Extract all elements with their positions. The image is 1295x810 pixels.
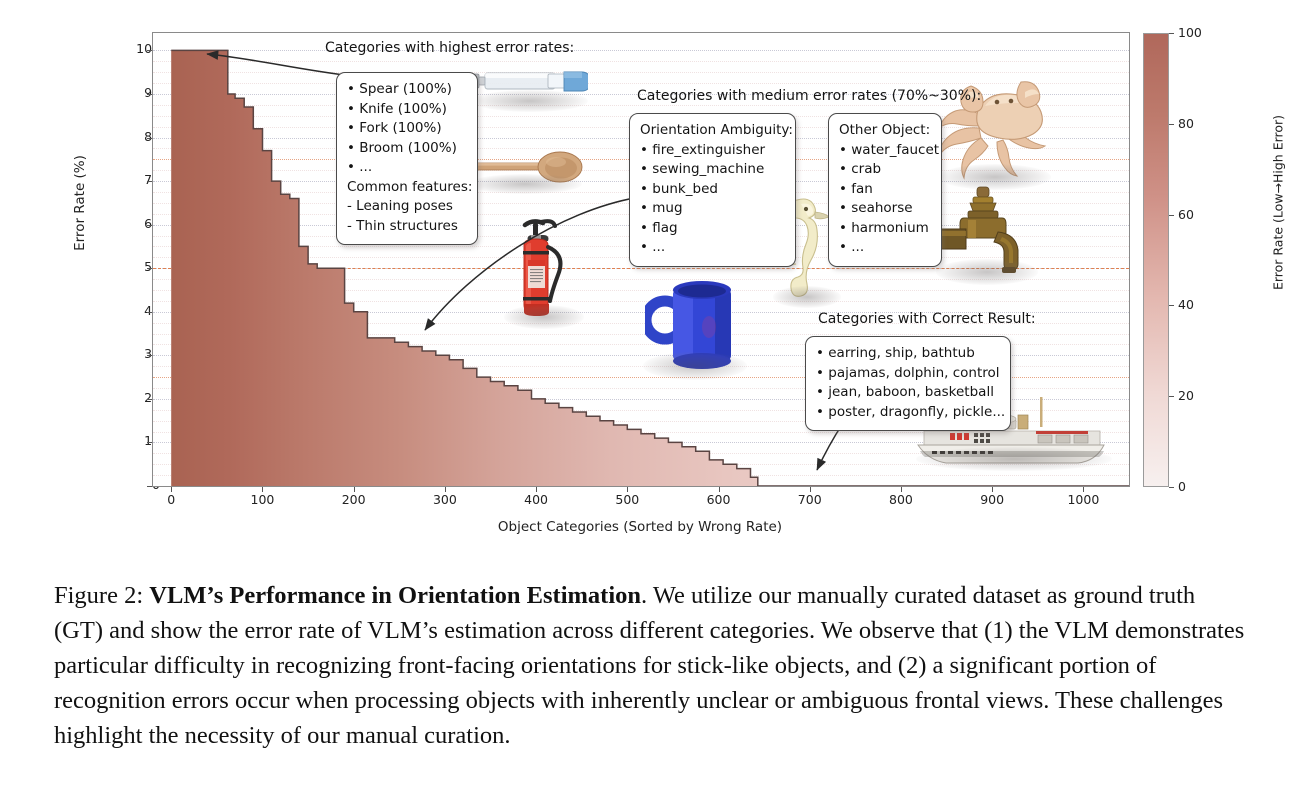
figure-2-container: Error Rate (%) Object Categories (Sorted… (0, 0, 1295, 810)
caption-figure-number: Figure 2: (54, 582, 149, 609)
highest-item-4: • ... (347, 158, 467, 178)
correct-result-callout: • earring, ship, bathtub • pajamas, dolp… (805, 336, 1011, 431)
other-item-0: • water_faucet (839, 141, 931, 161)
highest-item-2: • Fork (100%) (347, 119, 467, 139)
correct-result-header: Categories with Correct Result: (818, 311, 1036, 327)
highest-item-1: • Knife (100%) (347, 100, 467, 120)
other-item-5: • ... (839, 238, 931, 258)
orientation-ambiguity-callout: Orientation Ambiguity: • fire_extinguish… (629, 113, 796, 267)
correct-item-0: • earring, ship, bathtub (816, 344, 1000, 364)
other-item-3: • seahorse (839, 199, 931, 219)
chart-area: Error Rate (%) Object Categories (Sorted… (0, 0, 1295, 555)
orientation-item-2: • bunk_bed (640, 180, 785, 200)
medium-error-header: Categories with medium error rates (70%~… (637, 88, 981, 104)
annotation-arrows (0, 0, 1295, 555)
caption-title: VLM’s Performance in Orientation Estimat… (149, 582, 641, 609)
other-object-title: Other Object: (839, 121, 931, 141)
orientation-item-1: • sewing_machine (640, 160, 785, 180)
common-feature-1: - Thin structures (347, 217, 467, 237)
highest-error-header: Categories with highest error rates: (325, 40, 574, 56)
highest-item-0: • Spear (100%) (347, 80, 467, 100)
correct-item-2: • jean, baboon, basketball (816, 383, 1000, 403)
orientation-item-3: • mug (640, 199, 785, 219)
other-item-2: • fan (839, 180, 931, 200)
highest-error-callout: • Spear (100%) • Knife (100%) • Fork (10… (336, 72, 478, 245)
arrow-to-peak (207, 54, 352, 76)
other-item-1: • crab (839, 160, 931, 180)
correct-item-1: • pajamas, dolphin, control (816, 364, 1000, 384)
correct-item-3: • poster, dragonfly, pickle... (816, 403, 1000, 423)
orientation-item-4: • flag (640, 219, 785, 239)
other-item-4: • harmonium (839, 219, 931, 239)
orientation-title: Orientation Ambiguity: (640, 121, 785, 141)
orientation-item-0: • fire_extinguisher (640, 141, 785, 161)
figure-caption: Figure 2: VLM’s Performance in Orientati… (54, 578, 1246, 753)
common-feature-0: - Leaning poses (347, 197, 467, 217)
other-object-callout: Other Object: • water_faucet • crab • fa… (828, 113, 942, 267)
common-features-header: Common features: (347, 178, 467, 198)
highest-item-3: • Broom (100%) (347, 139, 467, 159)
orientation-item-5: • ... (640, 238, 785, 258)
